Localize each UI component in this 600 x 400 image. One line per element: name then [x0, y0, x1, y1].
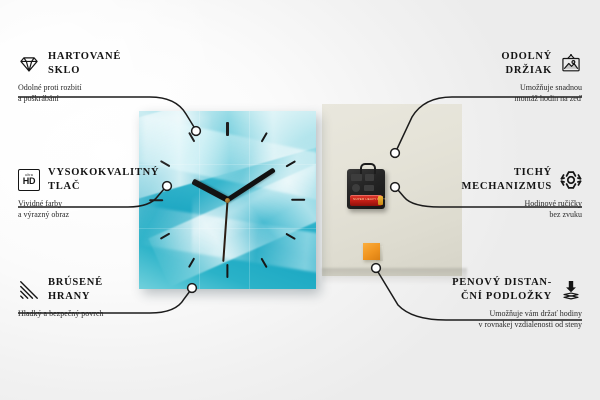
feature-foam-spacer-pads-description: Umožňuje vám držať hodiny v rovnakej vzd…	[382, 309, 582, 330]
mechanism-battery: SUPER HEAVY DUTY	[350, 195, 382, 206]
feature-silent-mechanism: TICHÝ MECHANIZMUS Hodinové ručičky bez z…	[412, 166, 582, 220]
infographic-canvas: SUPER HEAVY DUTY	[0, 0, 600, 400]
ultra-hd-icon: ultra HD	[18, 169, 40, 191]
feature-durable-holder-head: ODOLNÝ DRŽIAK	[412, 50, 582, 77]
mechanism-detail-c	[352, 184, 360, 192]
feature-beveled-edges-description: Hladký a bezpečný povrch	[18, 309, 208, 320]
feature-beveled-edges-head: BRÚSENÉ HRANY	[18, 276, 208, 303]
battery-positive-tip	[378, 196, 383, 205]
feature-high-quality-print: ultra HD VYSOKOKVALITNÝ TLAČ Vividné far…	[18, 166, 188, 220]
feature-silent-mechanism-title: TICHÝ MECHANIZMUS	[461, 166, 552, 193]
feature-beveled-edges: BRÚSENÉ HRANY Hladký a bezpečný povrch	[18, 276, 208, 320]
feature-foam-spacer-pads: PENOVÝ DISTAN- ČNÍ PODLOŽKY Umožňuje vám…	[382, 276, 582, 330]
feature-hardened-glass-description: Odolné proti rozbití a poškrábání	[18, 83, 188, 104]
feature-foam-spacer-pads-head: PENOVÝ DISTAN- ČNÍ PODLOŽKY	[382, 276, 582, 303]
gear-icon	[560, 169, 582, 191]
feature-hardened-glass: HARTOVANÉ SKLO Odolné proti rozbití a po…	[18, 50, 188, 104]
feature-foam-spacer-pads-title: PENOVÝ DISTAN- ČNÍ PODLOŽKY	[452, 276, 552, 303]
feature-durable-holder-description: Umožňuje snadnou montáž hodin na zeď	[412, 83, 582, 104]
clock-mechanism: SUPER HEAVY DUTY	[347, 169, 385, 209]
mechanism-hanger-hook	[360, 163, 376, 174]
beveled-edge-icon	[18, 279, 40, 301]
picture-frame-icon	[560, 53, 582, 75]
feature-high-quality-print-title: VYSOKOKVALITNÝ TLAČ	[48, 166, 159, 193]
feature-durable-holder: ODOLNÝ DRŽIAK Umožňuje snadnou montáž ho…	[412, 50, 582, 104]
feature-high-quality-print-head: ultra HD VYSOKOKVALITNÝ TLAČ	[18, 166, 188, 193]
feature-hardened-glass-title: HARTOVANÉ SKLO	[48, 50, 121, 77]
ultra-hd-icon-main-label: HD	[23, 177, 36, 187]
foam-spacer-pad	[363, 243, 380, 260]
feature-beveled-edges-title: BRÚSENÉ HRANY	[48, 276, 103, 303]
foam-pad-icon	[560, 279, 582, 301]
diamond-icon	[18, 53, 40, 75]
mechanism-detail-b	[365, 174, 374, 181]
feature-silent-mechanism-head: TICHÝ MECHANIZMUS	[412, 166, 582, 193]
mechanism-detail-d	[364, 185, 374, 191]
feature-silent-mechanism-description: Hodinové ručičky bez zvuku	[412, 199, 582, 220]
feature-high-quality-print-description: Vividné farby a výrazný obraz	[18, 199, 188, 220]
mechanism-detail-a	[351, 174, 362, 181]
feature-durable-holder-title: ODOLNÝ DRŽIAK	[501, 50, 552, 77]
feature-hardened-glass-head: HARTOVANÉ SKLO	[18, 50, 188, 77]
